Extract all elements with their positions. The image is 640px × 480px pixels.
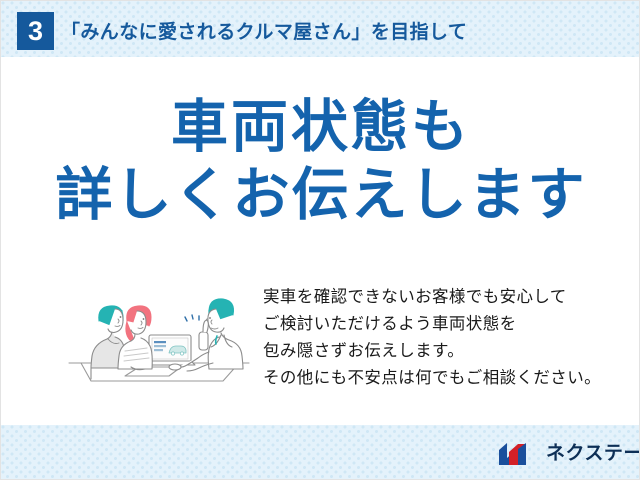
- speech-sparkles: [185, 315, 199, 321]
- body-copy: 実車を確認できないお客様でも安心して ご検討いただけるよう車両状態を 包み隠さず…: [263, 284, 601, 392]
- body-copy-line: 実車を確認できないお客様でも安心して: [263, 284, 601, 311]
- header-title: 「みんなに愛されるクルマ屋さん」を目指して: [61, 17, 467, 44]
- headline-line-2: 詳しくお伝えします: [1, 165, 640, 225]
- headline: 車両状態も 詳しくお伝えします: [1, 97, 640, 226]
- body-copy-line: 包み隠さずお伝えします。: [263, 338, 601, 365]
- headline-line-1: 車両状態も: [1, 97, 640, 157]
- consultation-illustration: [63, 277, 255, 389]
- brand-logo: ネクステージ: [497, 439, 640, 469]
- nextage-n-mark-icon: [497, 441, 541, 467]
- section-number-badge: 3: [17, 12, 54, 50]
- body-copy-line: ご検討いただけるよう車両状態を: [263, 311, 601, 338]
- promo-banner: 3 「みんなに愛されるクルマ屋さん」を目指して 車両状態も 詳しくお伝えします …: [0, 0, 640, 480]
- body-copy-line: その他にも不安点は何でもご相談ください。: [263, 365, 601, 392]
- brand-logo-text: ネクステージ: [546, 441, 640, 467]
